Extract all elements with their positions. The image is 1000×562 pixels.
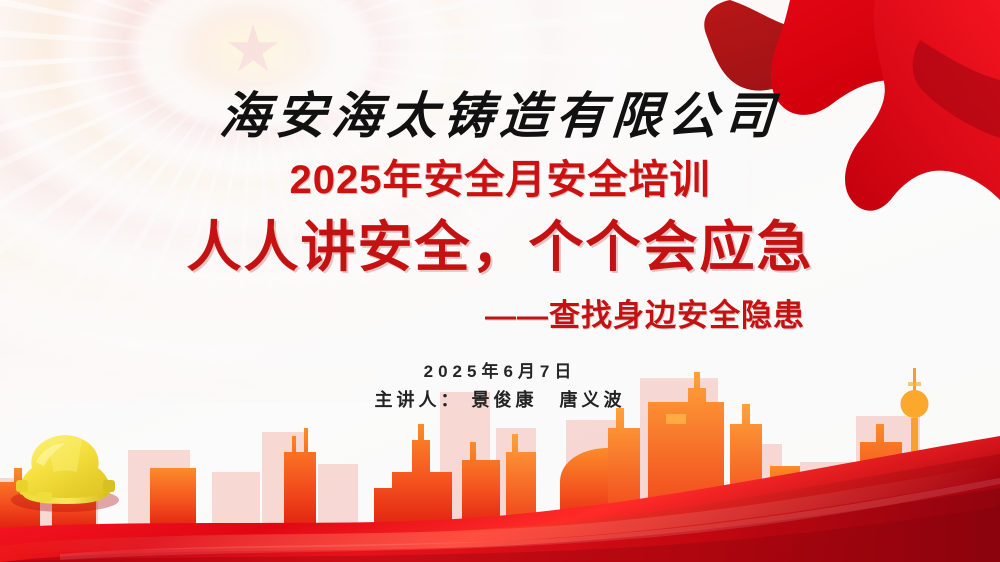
training-title: 2025年安全月安全培训 <box>0 147 1000 205</box>
slide-text-layer: 海安海太铸造有限公司 2025年安全月安全培训 人人讲安全，个个会应急 ——查找… <box>0 0 1000 562</box>
presentation-slide: 海安海太铸造有限公司 2025年安全月安全培训 人人讲安全，个个会应急 ——查找… <box>0 0 1000 562</box>
main-slogan: 人人讲安全，个个会应急 <box>0 202 1000 282</box>
speaker-text: 主讲人： 景俊康 唐义波 <box>0 386 1000 412</box>
date-text: 2025年6月7日 <box>0 357 1000 382</box>
subtitle: ——查找身边安全隐患 <box>485 290 805 335</box>
company-name: 海安海太铸造有限公司 <box>0 76 1000 148</box>
